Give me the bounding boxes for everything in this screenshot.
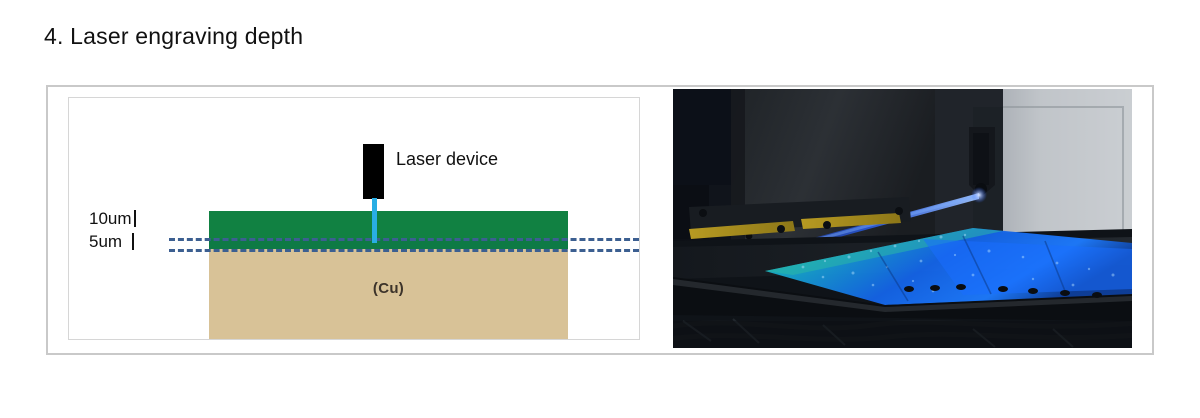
machine-photo-image (673, 89, 1132, 348)
content-card: (Cu) 10um 5um Laser device (46, 85, 1154, 355)
laser-device-icon (363, 144, 384, 199)
diagram-stage: (Cu) 10um 5um Laser device (69, 98, 639, 339)
depth-label-10um: 10um (89, 209, 136, 229)
laser-beam-icon (372, 198, 377, 243)
diagram-panel: (Cu) 10um 5um Laser device (68, 97, 640, 340)
page-title: 4. Laser engraving depth (44, 21, 303, 51)
copper-substrate-label: (Cu) (209, 280, 568, 297)
laser-device-label: Laser device (396, 149, 498, 170)
depth-tick-5um (132, 233, 134, 250)
depth-tick-10um (134, 210, 136, 227)
depth-line-5um (169, 249, 639, 252)
depth-label-5um: 5um (89, 232, 134, 252)
depth-label-10um-text: 10um (89, 209, 132, 228)
depth-label-5um-text: 5um (89, 232, 122, 251)
depth-line-10um (169, 238, 639, 241)
machine-photo (673, 89, 1132, 348)
